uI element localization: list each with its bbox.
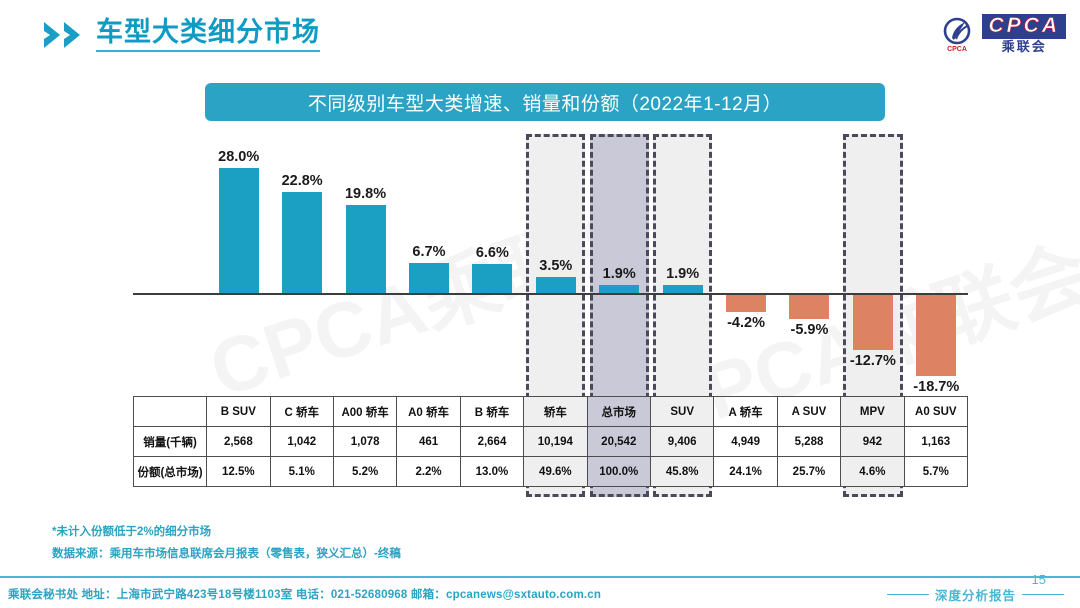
- table-corner-cell: [134, 397, 207, 427]
- table-cell: 9,406: [650, 427, 713, 457]
- bar-chart-plot: 28.0%22.8%19.8%6.7%6.6%3.5%1.9%1.9%-4.2%…: [133, 134, 968, 394]
- bar-A SUV: [789, 293, 829, 319]
- table-header-A-SUV: A SUV: [777, 397, 840, 427]
- table-header-B-SUV: B SUV: [207, 397, 270, 427]
- bar-label-B SUV: 28.0%: [205, 149, 273, 165]
- slide-page: 车型大类细分市场 CPCA CPCA 乘联会 不同级别车型大类增速、销量和份额（…: [0, 0, 1080, 608]
- double-chevron-icon: [42, 20, 88, 50]
- zero-axis-line: [133, 293, 968, 295]
- table-cell: 942: [841, 427, 904, 457]
- table-header-A00-轿车: A00 轿车: [333, 397, 396, 427]
- chart-title: 不同级别车型大类增速、销量和份额（2022年1-12月）: [308, 89, 782, 116]
- footer-right: 15 深度分析报告: [887, 572, 1064, 604]
- table-cell: 1,078: [333, 427, 396, 457]
- table-header-B-轿车: B 轿车: [460, 397, 523, 427]
- logo-brand: CPCA: [982, 14, 1066, 39]
- page-title: 车型大类细分市场: [96, 18, 320, 52]
- table-cell: 2,568: [207, 427, 270, 457]
- cpca-logo-text: CPCA 乘联会: [982, 14, 1066, 56]
- bar-label-A0 SUV: -18.7%: [902, 379, 970, 395]
- table-cell: 2,664: [460, 427, 523, 457]
- bar-SUV: [663, 285, 703, 293]
- table-cell: 100.0%: [587, 457, 650, 487]
- bar-label-A0 轿车: 6.7%: [395, 244, 463, 260]
- bar-label-A00 轿车: 19.8%: [332, 186, 400, 202]
- bar-A0 SUV: [916, 293, 956, 376]
- table-cell: 20,542: [587, 427, 650, 457]
- table-row-label: 销量(千辆): [134, 427, 207, 457]
- table-header-总市场: 总市场: [587, 397, 650, 427]
- bar-C 轿车: [282, 192, 322, 293]
- table-header-row: B SUVC 轿车A00 轿车A0 轿车B 轿车轿车总市场SUVA 轿车A SU…: [134, 397, 968, 427]
- table-cell: 24.1%: [714, 457, 777, 487]
- bar-label-C 轿车: 22.8%: [268, 173, 336, 189]
- slide-header: 车型大类细分市场: [42, 18, 320, 52]
- table-cell: 1,042: [270, 427, 333, 457]
- table-row: 销量(千辆)2,5681,0421,0784612,66410,19420,54…: [134, 427, 968, 457]
- table-cell: 49.6%: [524, 457, 587, 487]
- footer-brand: 深度分析报告: [935, 585, 1016, 604]
- bar-label-总市场: 1.9%: [585, 266, 653, 282]
- table-cell: 12.5%: [207, 457, 270, 487]
- bar-总市场: [599, 285, 639, 293]
- cpca-logo: CPCA CPCA 乘联会: [942, 14, 1066, 56]
- chart-title-banner: 不同级别车型大类增速、销量和份额（2022年1-12月）: [205, 83, 885, 121]
- table-cell: 45.8%: [650, 457, 713, 487]
- table-cell: 4,949: [714, 427, 777, 457]
- table-header-A-轿车: A 轿车: [714, 397, 777, 427]
- footer-rule-right: [1022, 594, 1064, 596]
- table-header-A0-SUV: A0 SUV: [904, 397, 967, 427]
- bar-label-SUV: 1.9%: [649, 266, 717, 282]
- table-header-MPV: MPV: [841, 397, 904, 427]
- bar-MPV: [853, 293, 893, 350]
- bar-label-A SUV: -5.9%: [775, 322, 843, 338]
- table-cell: 5.2%: [333, 457, 396, 487]
- bar-B SUV: [219, 168, 259, 293]
- footer-rule-left: [887, 594, 929, 596]
- table-cell: 10,194: [524, 427, 587, 457]
- footnote-line-2: 数据来源：乘用车市场信息联席会月报表（零售表，狭义汇总）-终稿: [52, 544, 401, 566]
- table-cell: 5.7%: [904, 457, 967, 487]
- svg-text:CPCA: CPCA: [948, 46, 968, 53]
- table-cell: 5.1%: [270, 457, 333, 487]
- table-row: 份额(总市场)12.5%5.1%5.2%2.2%13.0%49.6%100.0%…: [134, 457, 968, 487]
- footnote-line-1: *未计入份额低于2%的细分市场: [52, 522, 401, 544]
- bar-A0 轿车: [409, 263, 449, 293]
- table-cell: 5,288: [777, 427, 840, 457]
- cpca-mark-icon: CPCA: [942, 17, 976, 53]
- table-body: 销量(千辆)2,5681,0421,0784612,66410,19420,54…: [134, 427, 968, 487]
- bar-label-B 轿车: 6.6%: [458, 245, 526, 261]
- bar-label-轿车: 3.5%: [522, 258, 590, 274]
- table-cell: 461: [397, 427, 460, 457]
- logo-brand-cn: 乘联会: [1002, 39, 1047, 56]
- table-cell: 2.2%: [397, 457, 460, 487]
- table-cell: 4.6%: [841, 457, 904, 487]
- table-header-C-轿车: C 轿车: [270, 397, 333, 427]
- bar-A 轿车: [726, 293, 766, 312]
- table-cell: 25.7%: [777, 457, 840, 487]
- footnotes: *未计入份额低于2%的细分市场 数据来源：乘用车市场信息联席会月报表（零售表，狭…: [52, 522, 401, 566]
- footer-brand-row: 深度分析报告: [887, 585, 1064, 604]
- bar-B 轿车: [472, 264, 512, 293]
- table-header-A0-轿车: A0 轿车: [397, 397, 460, 427]
- bar-label-A 轿车: -4.2%: [712, 315, 780, 331]
- table-header-轿车: 轿车: [524, 397, 587, 427]
- bar-A00 轿车: [346, 205, 386, 293]
- table-header-SUV: SUV: [650, 397, 713, 427]
- table-cell: 13.0%: [460, 457, 523, 487]
- table-row-label: 份额(总市场): [134, 457, 207, 487]
- bar-label-MPV: -12.7%: [839, 353, 907, 369]
- table-cell: 1,163: [904, 427, 967, 457]
- bar-轿车: [536, 277, 576, 293]
- data-table: B SUVC 轿车A00 轿车A0 轿车B 轿车轿车总市场SUVA 轿车A SU…: [133, 396, 968, 487]
- footer-contact: 乘联会秘书处 地址：上海市武宁路423号18号楼1103室 电话：021-526…: [8, 586, 601, 602]
